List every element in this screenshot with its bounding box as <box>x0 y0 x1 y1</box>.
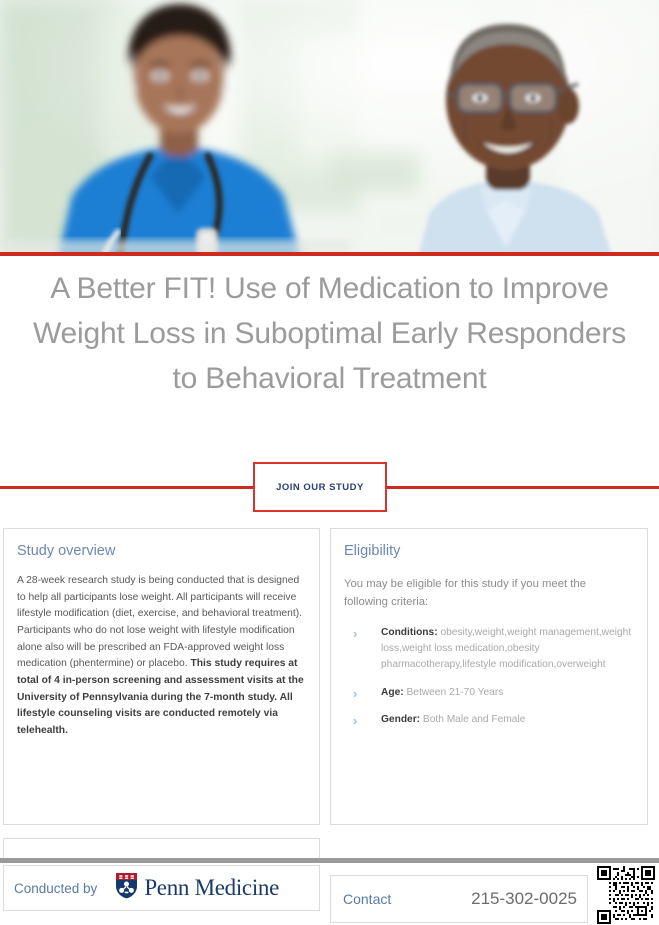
penn-medicine-logo: Penn Medicine <box>115 872 279 904</box>
contact-card[interactable]: Contact 215-302-0025 <box>330 875 588 923</box>
list-item: › Age: Between 21-70 Years <box>351 685 633 701</box>
join-our-study-label: JOIN OUR STUDY <box>276 482 364 493</box>
list-item: › Conditions: obesity,weight,weight mana… <box>351 625 633 674</box>
criteria-label: Conditions: <box>381 627 438 638</box>
eligibility-criteria-list: › Conditions: obesity,weight,weight mana… <box>331 625 647 729</box>
eligibility-card: Eligibility You may be eligible for this… <box>330 528 648 825</box>
chevron-right-icon: › <box>353 684 357 705</box>
footer-bar: Conducted by <box>0 863 659 925</box>
qr-code-icon[interactable] <box>596 866 656 924</box>
eligibility-intro: You may be eligible for this study if yo… <box>331 559 647 612</box>
hero-image <box>0 0 659 256</box>
hero-red-rule <box>0 252 659 256</box>
study-overview-text-bold: This study requires at total of 4 in-per… <box>17 658 304 736</box>
conducted-by-label: Conducted by <box>4 881 97 896</box>
chevron-right-icon: › <box>353 624 357 645</box>
contact-label: Contact <box>331 891 391 907</box>
criteria-value: Between 21-70 Years <box>406 687 503 698</box>
study-overview-text: A 28-week research study is being conduc… <box>17 575 302 669</box>
study-flyer-page: A Better FIT! Use of Medication to Impro… <box>0 0 659 925</box>
join-study-band: JOIN OUR STUDY <box>0 462 659 514</box>
penn-shield-icon <box>115 872 138 904</box>
penn-medicine-wordmark: Penn Medicine <box>144 875 279 901</box>
page-title-wrap: A Better FIT! Use of Medication to Impro… <box>0 266 659 401</box>
join-our-study-button[interactable]: JOIN OUR STUDY <box>253 462 387 512</box>
list-item: › Gender: Both Male and Female <box>351 712 633 728</box>
chevron-right-icon: › <box>353 711 357 732</box>
study-overview-body: A 28-week research study is being conduc… <box>4 559 319 750</box>
criteria-value: Both Male and Female <box>423 714 526 725</box>
contact-phone-number[interactable]: 215-302-0025 <box>471 889 587 909</box>
study-overview-heading: Study overview <box>4 529 319 559</box>
study-overview-card: Study overview A 28-week research study … <box>3 528 320 825</box>
conducted-by-card: Conducted by <box>3 865 320 911</box>
page-title: A Better FIT! Use of Medication to Impro… <box>28 266 631 401</box>
criteria-label: Age: <box>381 687 404 698</box>
eligibility-heading: Eligibility <box>331 529 647 559</box>
criteria-label: Gender: <box>381 714 420 725</box>
